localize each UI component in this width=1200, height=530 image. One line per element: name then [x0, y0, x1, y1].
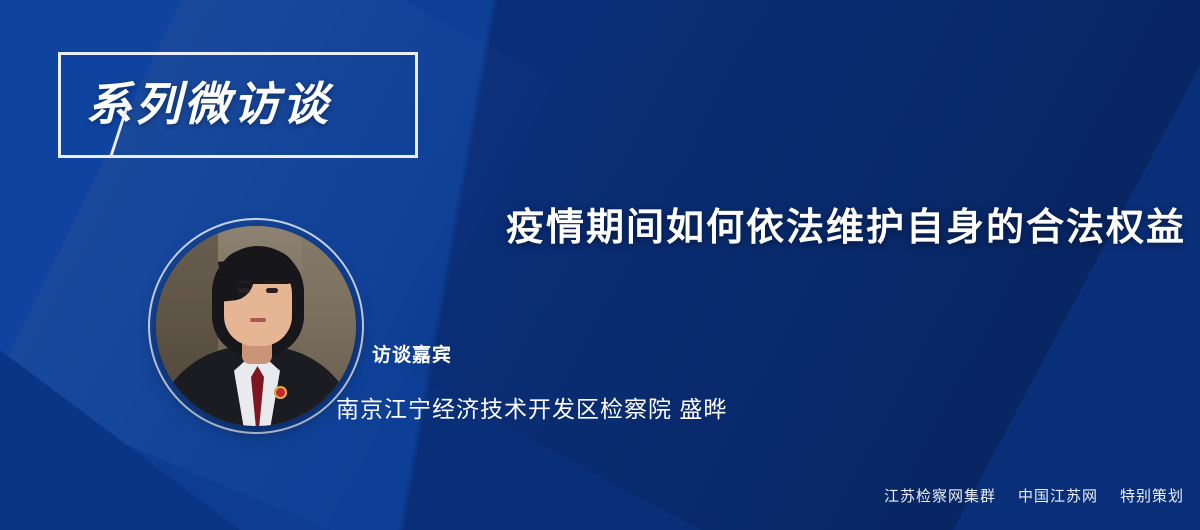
prosecutor-emblem-icon — [274, 386, 287, 399]
interview-banner: 系列微访谈 疫情期间如何依法维护自身的合法权益 访谈嘉宾 南京江宁经济技术开发区… — [0, 0, 1200, 530]
portrait-eye-right — [266, 288, 278, 293]
avatar — [156, 226, 356, 426]
guest-label: 访谈嘉宾 — [372, 340, 452, 367]
series-label-frame: 系列微访谈 — [58, 52, 418, 158]
portrait-eyebrow-right — [265, 281, 280, 284]
footer-credits: 江苏检察网集群 中国江苏网 特别策划 — [884, 485, 1184, 506]
footer-credit-2: 中国江苏网 — [1018, 485, 1098, 506]
guest-name: 南京江宁经济技术开发区检察院 盛晔 — [336, 390, 727, 424]
portrait-mouth — [250, 318, 266, 322]
portrait-eye-left — [238, 288, 250, 293]
footer-credit-1: 江苏检察网集群 — [884, 485, 996, 506]
footer-credit-3: 特别策划 — [1120, 485, 1184, 506]
portrait-eyebrow-left — [236, 281, 251, 284]
page-title: 疫情期间如何依法维护自身的合法权益 — [506, 196, 1186, 251]
